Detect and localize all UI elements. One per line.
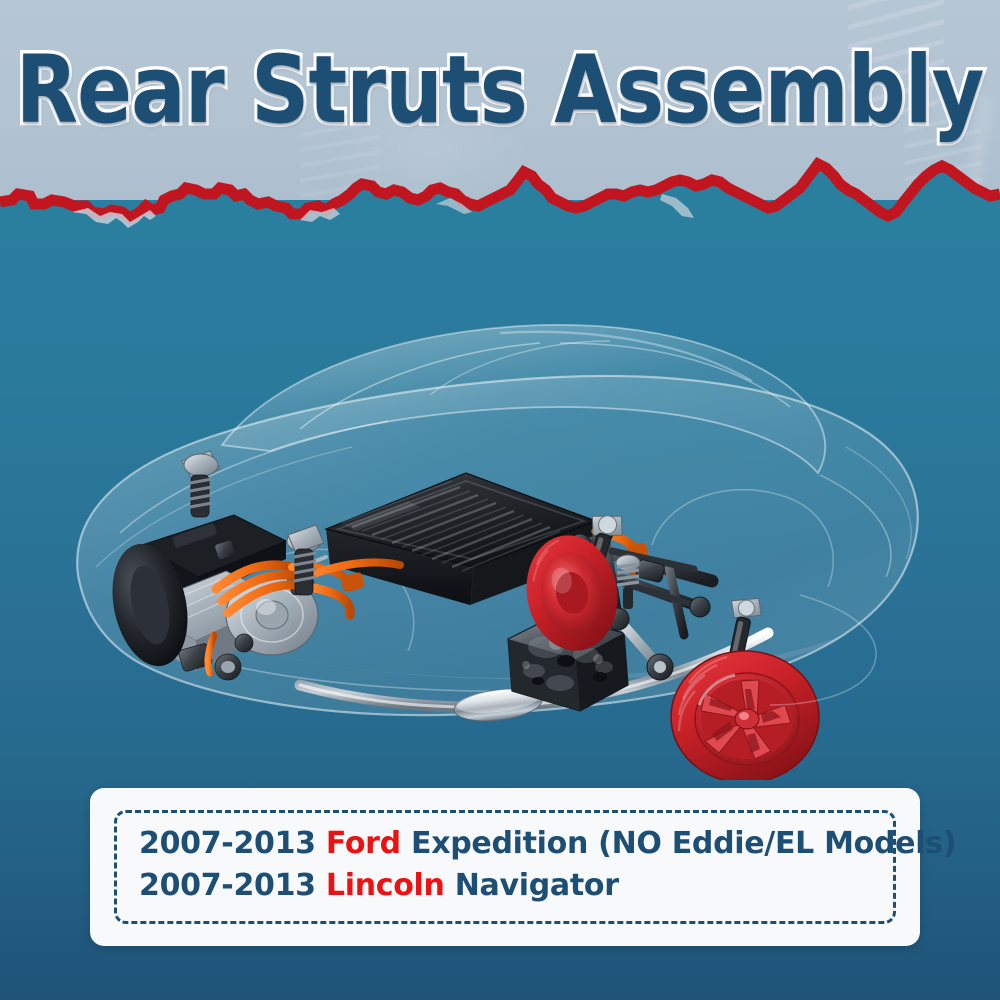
product-image — [0, 215, 1000, 780]
page-title: Rear Struts Assembly — [16, 44, 984, 138]
fitment-brand: Ford — [326, 826, 401, 861]
fitment-years: 2007-2013 — [139, 868, 326, 903]
fitment-brand: Lincoln — [326, 868, 445, 903]
divider-paper-flecks-3 — [436, 198, 472, 214]
fitment-row: 2007-2013 Lincoln Navigator — [139, 865, 893, 907]
fitment-model: Expedition (NO Eddie/EL Models) — [401, 826, 956, 861]
fitment-row: 2007-2013 Ford Expedition (NO Eddie/EL M… — [139, 823, 893, 865]
rear-wheel — [671, 651, 819, 780]
product-poster: Rear Struts Assembly — [0, 0, 1000, 1000]
fitment-dashed-box: 2007-2013 Ford Expedition (NO Eddie/EL M… — [114, 810, 896, 924]
fitment-panel: 2007-2013 Ford Expedition (NO Eddie/EL M… — [90, 788, 920, 946]
suspension-bushing — [654, 661, 666, 673]
fitment-years: 2007-2013 — [139, 826, 326, 861]
page-title-wrap: Rear Struts Assembly — [0, 36, 1000, 146]
fitment-model: Navigator — [445, 868, 619, 903]
